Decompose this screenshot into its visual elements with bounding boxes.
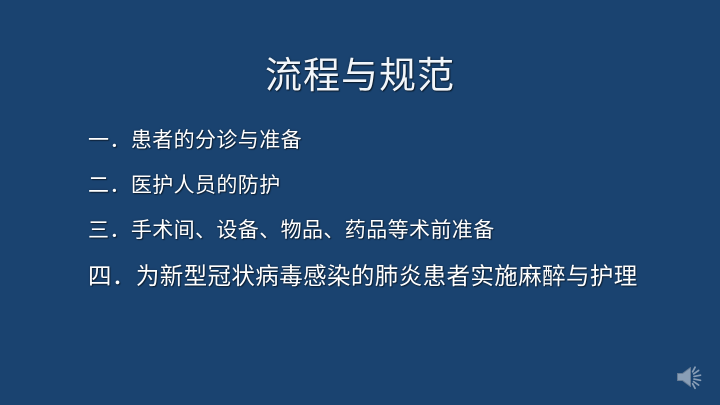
presentation-slide: 流程与规范 一．患者的分诊与准备 二．医护人员的防护 三．手术间、设备、物品、药… <box>0 0 720 405</box>
list-item-label: 为新型冠状病毒感染的肺炎患者实施麻醉与护理 <box>136 262 638 290</box>
list-item: 三．手术间、设备、物品、药品等术前准备 <box>88 220 696 241</box>
list-item-label: 患者的分诊与准备 <box>131 128 302 152</box>
page-title: 流程与规范 <box>0 53 720 99</box>
list-item-marker: 一． <box>88 128 131 152</box>
list-item-marker: 四． <box>88 262 136 290</box>
list-item-label: 医护人员的防护 <box>131 173 281 197</box>
list-item: 二．医护人员的防护 <box>88 175 696 196</box>
list-item: 四．为新型冠状病毒感染的肺炎患者实施麻醉与护理 <box>88 265 696 289</box>
speaker-icon[interactable] <box>675 363 707 391</box>
list-item: 一．患者的分诊与准备 <box>88 130 696 151</box>
list-item-label: 手术间、设备、物品、药品等术前准备 <box>131 218 495 242</box>
list-item-marker: 三． <box>88 218 131 242</box>
slide-body-list: 一．患者的分诊与准备 二．医护人员的防护 三．手术间、设备、物品、药品等术前准备… <box>88 130 696 289</box>
list-item-marker: 二． <box>88 173 131 197</box>
